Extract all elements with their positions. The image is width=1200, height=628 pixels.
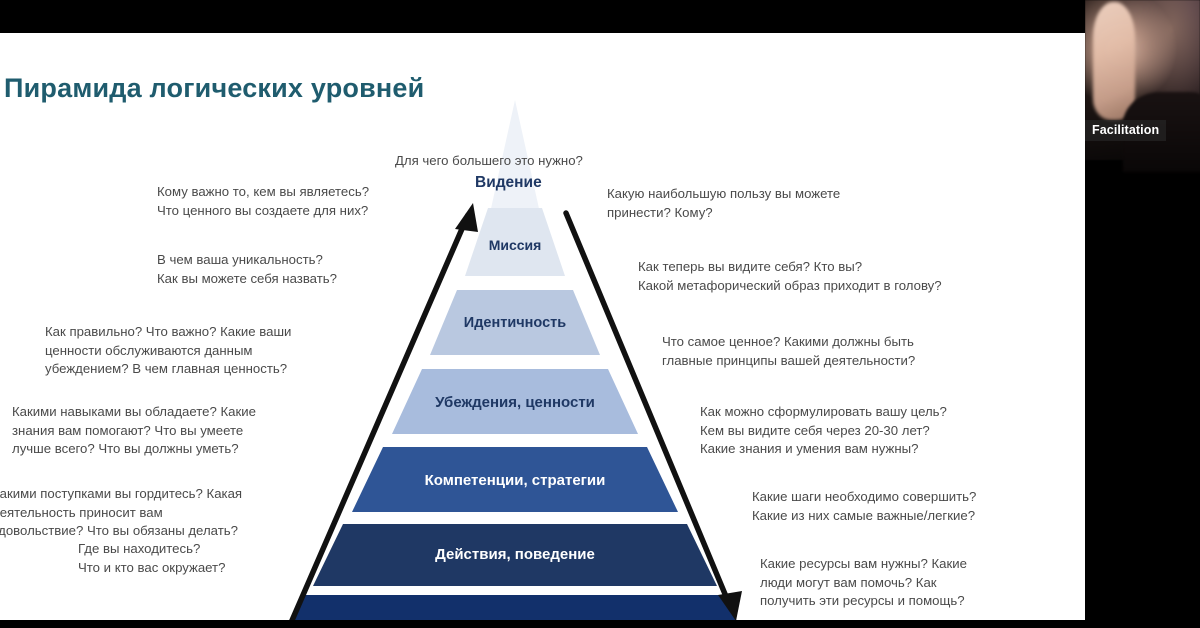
- bottom-letterbox-bar: [0, 620, 1085, 628]
- question-right-identity: Как теперь вы видите себя? Кто вы? Какой…: [638, 258, 1048, 295]
- question-left-actions: Какими поступками вы гордитесь? Какая де…: [0, 485, 327, 541]
- pyramid-tier-identity: [430, 290, 600, 355]
- question-right-beliefs: Что самое ценное? Какими должны быть гла…: [662, 333, 1002, 370]
- question-left-beliefs: Как правильно? Что важно? Какие ваши цен…: [45, 323, 365, 379]
- pyramid-tier-competence: [352, 447, 678, 512]
- pyramid-tier-beliefs: [392, 369, 638, 434]
- pyramid-tier-mission: [465, 208, 565, 276]
- participant-name-label: Facilitation: [1085, 120, 1166, 141]
- question-right-mission: Какую наибольшую пользу вы можете принес…: [607, 185, 937, 222]
- pyramid-tier-actions: [313, 524, 717, 586]
- question-right-competence: Как можно сформулировать вашу цель? Кем …: [700, 403, 1040, 459]
- question-left-competence: Какими навыками вы обладаете? Какие знан…: [12, 403, 337, 459]
- question-left-mission: Кому важно то, кем вы являетесь? Что цен…: [157, 183, 437, 220]
- apex-label: Видение: [475, 174, 542, 192]
- participant-video-tile[interactable]: Facilitation: [1085, 0, 1200, 628]
- question-left-identity: В чем ваша уникальность? Как вы можете с…: [157, 251, 417, 288]
- top-letterbox-bar: [0, 0, 1085, 33]
- question-right-actions: Какие шаги необходимо совершить? Какие и…: [752, 488, 1062, 525]
- question-left-environment: Где вы находитесь? Что и кто вас окружае…: [78, 540, 328, 577]
- hand-silhouette: [1093, 2, 1135, 120]
- pyramid-tier-environment: [278, 595, 752, 620]
- screen-share-view: Пирамида логических уровней: [0, 0, 1200, 628]
- question-right-environment: Какие ресурсы вам нужны? Какие люди могу…: [760, 555, 1030, 611]
- apex-question-text: Для чего большего это нужно?: [395, 153, 583, 168]
- shared-slide: Пирамида логических уровней: [0, 33, 1085, 620]
